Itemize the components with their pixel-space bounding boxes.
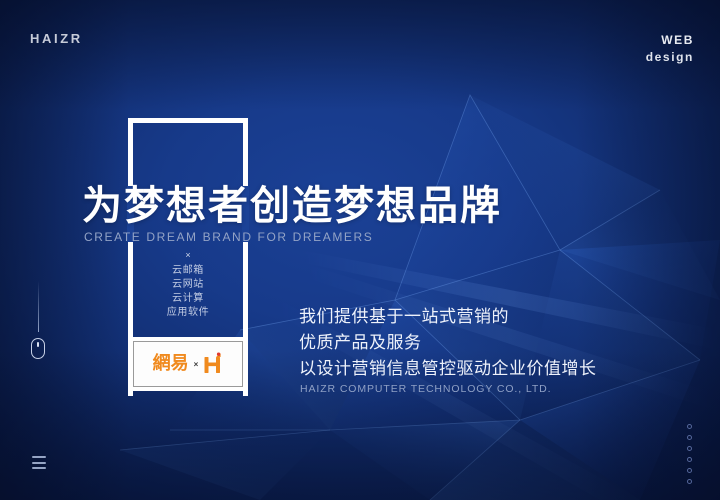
frame-menu-list: 云邮箱 云网站 云计算 应用软件 [128, 264, 248, 320]
pagination-dot-2[interactable] [687, 435, 692, 440]
pagination-dot-6[interactable] [687, 479, 692, 484]
tagline-line-2: design [646, 49, 694, 66]
brand-logo[interactable]: HAIZR [30, 31, 83, 46]
menu-item-cloud-computing[interactable]: 云计算 [128, 292, 248, 306]
hamburger-bar-3 [32, 467, 46, 469]
partner-logo-card[interactable]: 網易 × [130, 338, 246, 390]
scroll-rail-line [38, 281, 39, 332]
menu-item-applications[interactable]: 应用软件 [128, 306, 248, 320]
background-vignette [0, 0, 720, 500]
tagline-line-1: WEB [646, 32, 694, 49]
company-name-en: HAIZR COMPUTER TECHNOLOGY CO., LTD. [300, 383, 551, 395]
partner-logo-card-inner: 網易 × [133, 341, 243, 387]
haizr-h-mark-icon [203, 352, 223, 376]
body-line-2: 优质产品及服务 [299, 330, 597, 356]
body-line-1: 我们提供基于一站式营销的 [299, 304, 597, 330]
netease-wordmark: 網易 [153, 355, 189, 373]
web-design-tagline: WEB design [646, 32, 694, 66]
hamburger-bar-2 [32, 462, 46, 464]
hero-subheadline: CREATE DREAM BRAND FOR DREAMERS [84, 230, 373, 244]
body-line-3: 以设计营销信息管控驱动企业价值增长 [299, 356, 597, 382]
slide-pagination[interactable] [687, 424, 692, 490]
pagination-dot-4[interactable] [687, 457, 692, 462]
menu-item-cloud-website[interactable]: 云网站 [128, 278, 248, 292]
hamburger-menu-icon[interactable] [32, 456, 46, 469]
menu-item-cloud-mail[interactable]: 云邮箱 [128, 264, 248, 278]
body-copy: 我们提供基于一站式营销的 优质产品及服务 以设计营销信息管控驱动企业价值增长 [299, 304, 597, 382]
pagination-dot-3[interactable] [687, 446, 692, 451]
pagination-dot-1[interactable] [687, 424, 692, 429]
hamburger-bar-1 [32, 456, 46, 458]
pagination-dot-5[interactable] [687, 468, 692, 473]
frame-separator: × [128, 250, 248, 260]
hero-slide: HAIZR WEB design × 云邮箱 云网站 云计算 应用软件 網易 × [0, 0, 720, 500]
scroll-mouse-icon[interactable] [31, 338, 45, 359]
partner-separator: × [194, 360, 199, 369]
hero-headline: 为梦想者创造梦想品牌 [82, 183, 502, 229]
